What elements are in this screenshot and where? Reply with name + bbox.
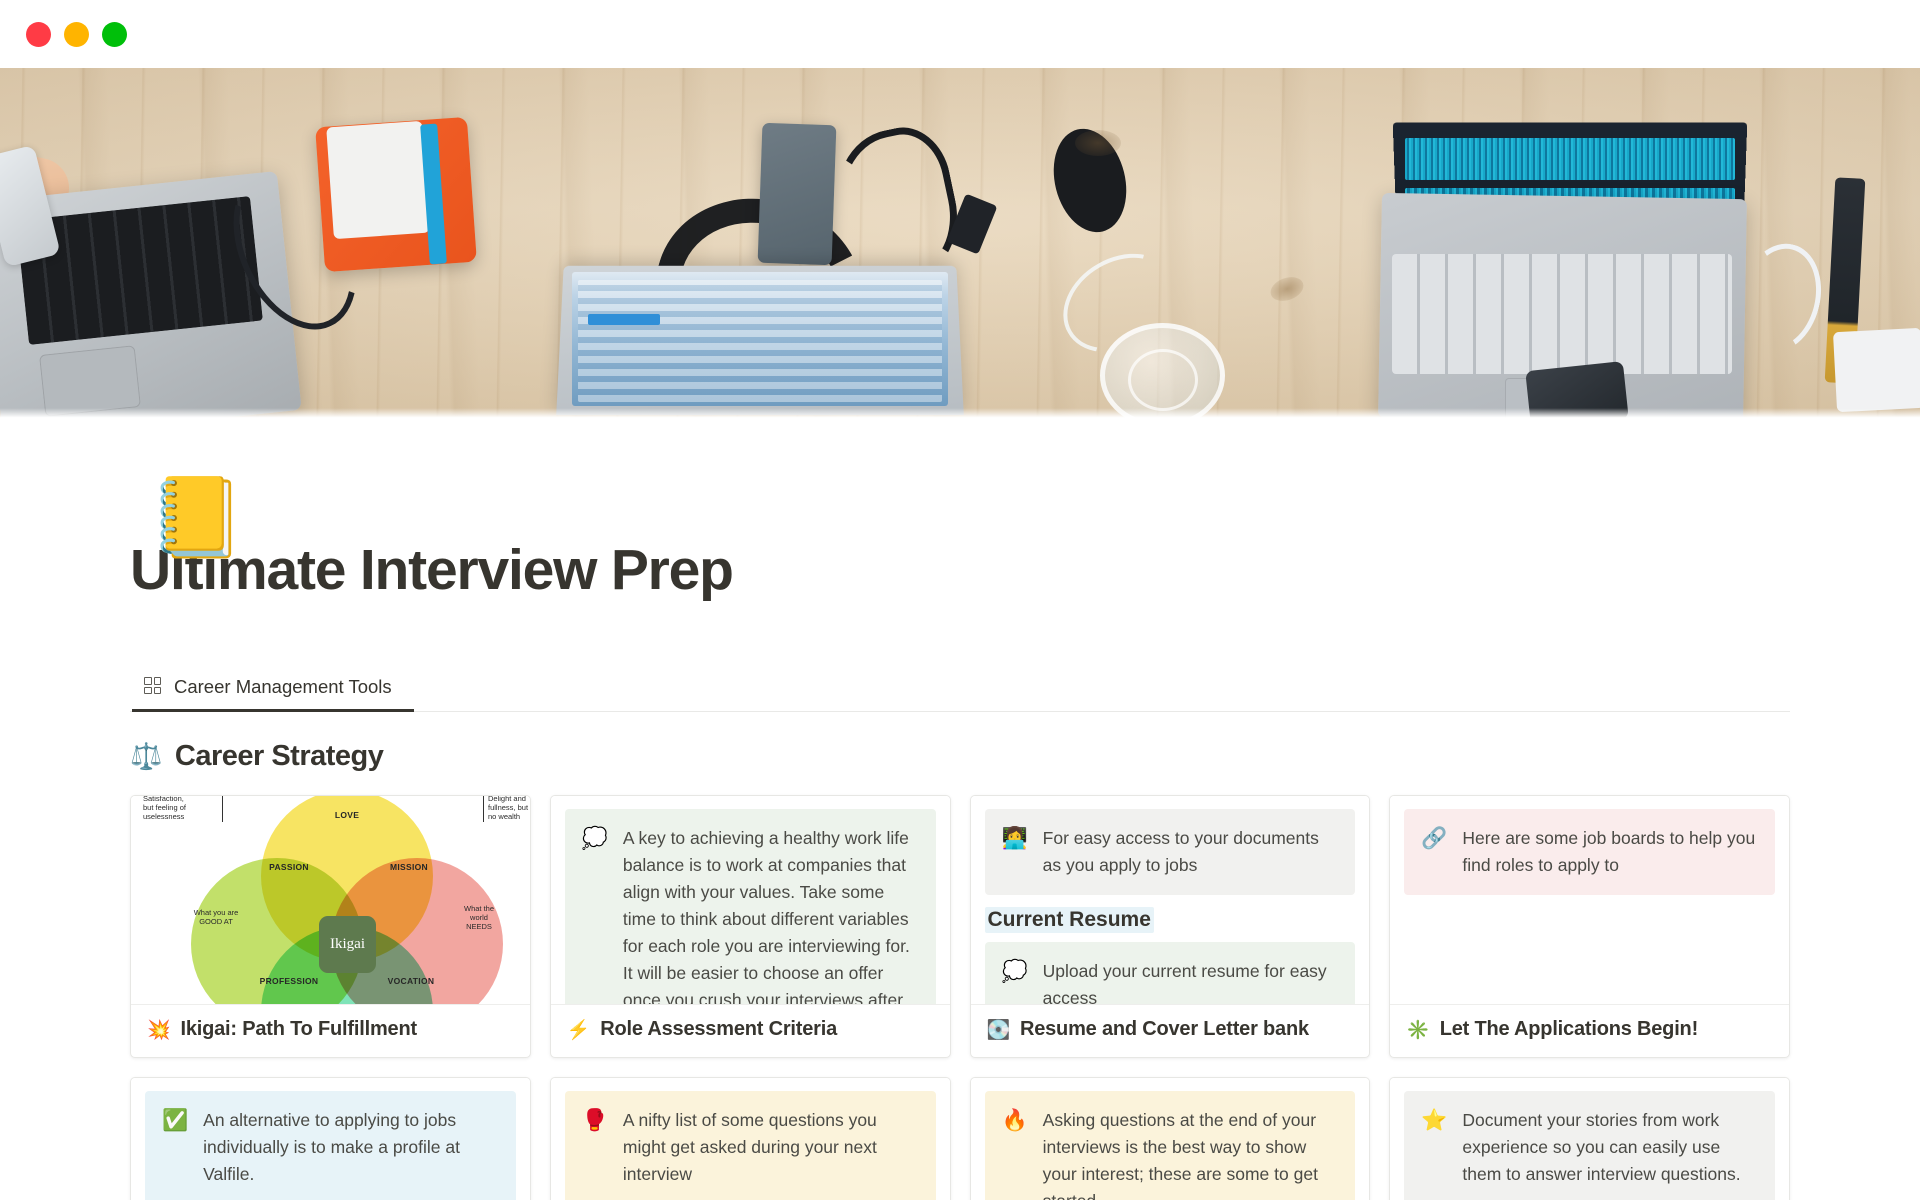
venn-note-uselessness: Satisfaction, but feeling of uselessness: [143, 796, 223, 822]
tab-label: Career Management Tools: [174, 676, 392, 698]
card-title-label: Resume and Cover Letter bank: [1020, 1018, 1309, 1041]
card-let-the-applications-begin[interactable]: 🔗 Here are some job boards to help you f…: [1389, 795, 1790, 1058]
callout-text: An alternative to applying to jobs indiv…: [203, 1107, 499, 1188]
fire-emoji: 🔥: [1002, 1107, 1028, 1200]
page-cover-image[interactable]: [0, 68, 1920, 418]
card-title-applications-begin: ✳️ Let The Applications Begin!: [1390, 1004, 1789, 1057]
left-laptop-keyboard: [16, 196, 263, 345]
close-window-button[interactable]: [26, 22, 51, 47]
venn-note-no-wealth: Delight and fullness, but no wealth: [483, 796, 530, 822]
card-title-resume-bank: 💽 Resume and Cover Letter bank: [971, 1004, 1370, 1057]
green-asterisk-emoji: ✳️: [1406, 1018, 1429, 1042]
card-valfile-profile[interactable]: ✅ An alternative to applying to jobs ind…: [130, 1077, 531, 1200]
link-emoji: 🔗: [1421, 825, 1447, 879]
high-voltage-emoji: ⚡: [567, 1018, 590, 1042]
venn-side-label-good-at: What you are GOOD AT: [177, 908, 255, 927]
card-resume-cover-letter-bank[interactable]: 👩‍💻 For easy access to your documents as…: [970, 795, 1371, 1058]
card-preview-callout: 🔗 Here are some job boards to help you f…: [1390, 796, 1789, 1004]
thought-balloon-emoji: 💭: [582, 825, 608, 1004]
venn-label-vocation: VOCATION: [375, 976, 447, 986]
card-preview-image: Ikigai LOVE PASSION MISSION PROFESSION V…: [131, 796, 530, 1004]
card-story-bank[interactable]: ⭐ Document your stories from work experi…: [1389, 1077, 1790, 1200]
callout-block: ⭐ Document your stories from work experi…: [1404, 1091, 1775, 1200]
card-preview-callout: ⭐ Document your stories from work experi…: [1390, 1078, 1789, 1200]
thought-balloon-emoji: 💭: [1002, 958, 1028, 1004]
tab-bar: Career Management Tools: [130, 670, 1790, 712]
check-mark-button-emoji: ✅: [162, 1107, 188, 1188]
balance-scale-emoji: ⚖️: [130, 741, 162, 772]
callout-text: Asking questions at the end of your inte…: [1043, 1107, 1339, 1200]
callout-block: 💭 A key to achieving a healthy work life…: [565, 809, 936, 1004]
white-adapter-box: [1833, 328, 1920, 412]
callout-text: A key to achieving a healthy work life b…: [623, 825, 919, 1004]
center-laptop-highlight: [588, 314, 660, 325]
card-title-label: Role Assessment Criteria: [600, 1018, 837, 1041]
card-preview-callout: 🥊 A nifty list of some questions you mig…: [551, 1078, 950, 1200]
callout-text: Document your stories from work experien…: [1462, 1107, 1758, 1188]
card-preview-multi: 👩‍💻 For easy access to your documents as…: [971, 796, 1370, 1004]
venn-center-ikigai: Ikigai: [319, 916, 376, 973]
callout-block: 🥊 A nifty list of some questions you mig…: [565, 1091, 936, 1200]
callout-text: For easy access to your documents as you…: [1043, 825, 1339, 879]
card-title-ikigai: 💥 Ikigai: Path To Fulfillment: [131, 1004, 530, 1057]
card-preview-callout: 🔥 Asking questions at the end of your in…: [971, 1078, 1370, 1200]
page-title[interactable]: Ultimate Interview Prep: [130, 540, 1790, 602]
section-heading-label: Career Strategy: [175, 740, 384, 773]
venn-label-profession: PROFESSION: [251, 976, 327, 986]
section-heading-career-strategy[interactable]: ⚖️ Career Strategy: [130, 740, 1790, 773]
card-title-label: Ikigai: Path To Fulfillment: [180, 1018, 416, 1041]
callout-block: 🔗 Here are some job boards to help you f…: [1404, 809, 1775, 895]
callout-text: Here are some job boards to help you fin…: [1462, 825, 1758, 879]
left-laptop-trackpad: [39, 345, 141, 417]
page-icon[interactable]: 📒: [148, 478, 245, 556]
cover-bottom-fade: [0, 408, 1920, 418]
card-gallery: Ikigai LOVE PASSION MISSION PROFESSION V…: [130, 795, 1790, 1200]
ikigai-venn-diagram: Ikigai LOVE PASSION MISSION PROFESSION V…: [131, 796, 530, 1004]
page-body: 📒 Ultimate Interview Prep Career Managem…: [0, 540, 1920, 1200]
grey-ssd-drive: [758, 123, 837, 265]
water-glass-inner: [1128, 349, 1198, 411]
callout-text: A nifty list of some questions you might…: [623, 1107, 919, 1188]
center-laptop-ui-rows: [578, 280, 942, 402]
callout-block: 🔥 Asking questions at the end of your in…: [985, 1091, 1356, 1200]
maximize-window-button[interactable]: [102, 22, 127, 47]
card-title-label: Let The Applications Begin!: [1440, 1018, 1698, 1041]
card-common-interview-questions[interactable]: 🥊 A nifty list of some questions you mig…: [550, 1077, 951, 1200]
orange-drive-label: [326, 121, 430, 239]
card-preview-multi: ✅ An alternative to applying to jobs ind…: [131, 1078, 530, 1200]
venn-label-mission: MISSION: [376, 862, 442, 872]
minimize-window-button[interactable]: [64, 22, 89, 47]
venn-label-passion: PASSION: [256, 862, 322, 872]
window-title-bar: [0, 0, 1920, 68]
star-emoji: ⭐: [1421, 1107, 1447, 1188]
minidisc-emoji: 💽: [987, 1018, 1010, 1042]
collision-emoji: 💥: [147, 1018, 170, 1042]
callout-text: Upload your current resume for easy acce…: [1043, 958, 1339, 1004]
card-preview-callout: 💭 A key to achieving a healthy work life…: [551, 796, 950, 1004]
woman-technologist-emoji: 👩‍💻: [1002, 825, 1028, 879]
venn-label-love: LOVE: [317, 810, 377, 820]
venn-side-label-needs: What the world NEEDS: [447, 904, 511, 932]
card-title-role-assessment: ⚡ Role Assessment Criteria: [551, 1004, 950, 1057]
boxing-glove-emoji: 🥊: [582, 1107, 608, 1188]
gallery-grid-icon: [144, 677, 163, 696]
card-role-assessment-criteria[interactable]: 💭 A key to achieving a healthy work life…: [550, 795, 951, 1058]
callout-block: 💭 Upload your current resume for easy ac…: [985, 942, 1356, 1004]
callout-block: ✅ An alternative to applying to jobs ind…: [145, 1091, 516, 1200]
audio-waveform-top: [1405, 138, 1735, 180]
callout-block: 👩‍💻 For easy access to your documents as…: [985, 809, 1356, 895]
tab-career-management-tools[interactable]: Career Management Tools: [132, 670, 414, 711]
card-ikigai[interactable]: Ikigai LOVE PASSION MISSION PROFESSION V…: [130, 795, 531, 1058]
right-laptop-keyboard: [1392, 254, 1732, 374]
card-questions-to-ask[interactable]: 🔥 Asking questions at the end of your in…: [970, 1077, 1371, 1200]
sub-heading-current-resume: Current Resume: [985, 907, 1154, 933]
wood-knot: [1075, 130, 1121, 156]
